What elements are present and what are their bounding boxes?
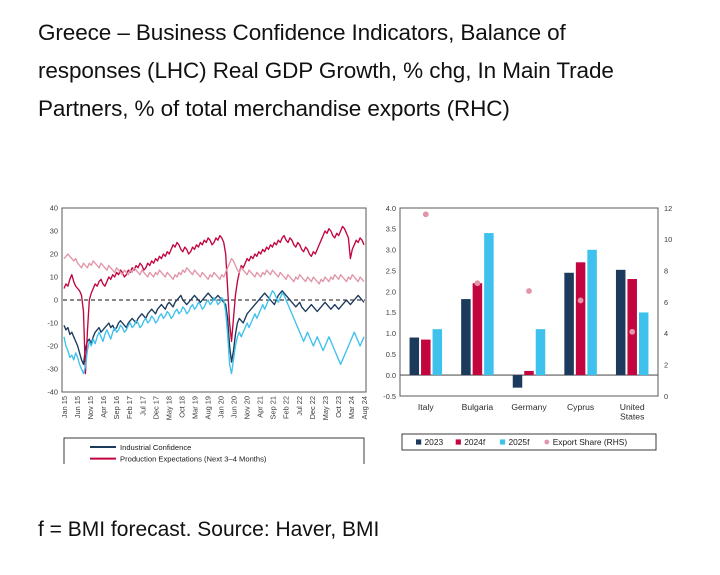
gdp-growth-chart: -0.50.00.51.01.52.02.53.03.54.0024681012…: [368, 202, 688, 464]
bar: [627, 279, 637, 375]
export-share-marker: [578, 298, 584, 304]
svg-text:Feb 22: Feb 22: [282, 396, 291, 419]
legend-swatch: [544, 440, 549, 445]
y-axis-tick-label: 0: [54, 296, 58, 305]
y-axis-tick-label: 0.0: [386, 371, 396, 380]
y-axis-tick-label: 2.5: [386, 266, 396, 275]
legend-label: 2025f: [508, 437, 530, 447]
x-axis-tick-label: Nov 15: [86, 396, 95, 419]
svg-text:Italy: Italy: [418, 402, 434, 412]
x-axis-tick-label: Feb 22: [282, 396, 291, 419]
page-title: Greece – Business Confidence Indicators,…: [38, 14, 658, 128]
business-confidence-svg: -40-30-20-10010203040Jan 15Jun 15Nov 15A…: [32, 202, 372, 464]
legend-label: 2023: [425, 437, 444, 447]
svg-text:Jul 22: Jul 22: [295, 396, 304, 416]
y2-axis-tick-label: 10: [664, 235, 672, 244]
x-axis-tick-label: May 23: [321, 396, 330, 420]
x-axis-tick-label: Nov 20: [243, 396, 252, 419]
y-axis-tick-label: -0.5: [383, 392, 396, 401]
category-label: Germany: [511, 402, 547, 412]
x-axis-tick-label: Feb 17: [125, 396, 134, 419]
y-axis-tick-label: 3.5: [386, 225, 396, 234]
svg-text:Jan 20: Jan 20: [217, 396, 226, 418]
y-axis-tick-label: 1.0: [386, 329, 396, 338]
svg-text:Dec 17: Dec 17: [151, 396, 160, 419]
x-axis-tick-label: Mar 24: [347, 396, 356, 419]
svg-text:Dec 22: Dec 22: [308, 396, 317, 419]
x-axis-tick-label: Apr 21: [256, 396, 265, 418]
y-axis-tick-label: 4.0: [386, 204, 396, 213]
bar: [473, 283, 483, 375]
svg-text:Cyprus: Cyprus: [567, 402, 594, 412]
x-axis-tick-label: Jul 22: [295, 396, 304, 416]
category-label: Italy: [418, 402, 434, 412]
x-axis-tick-label: Mar 19: [190, 396, 199, 419]
legend-label: Production Expectations (Next 3–4 Months…: [120, 455, 267, 464]
x-axis-tick-label: Jun 15: [73, 396, 82, 418]
y-axis-tick-label: 40: [50, 204, 58, 213]
svg-text:States: States: [620, 412, 644, 422]
x-axis-tick-label: Oct 23: [334, 396, 343, 418]
category-label: Cyprus: [567, 402, 594, 412]
category-label: UnitedStates: [620, 402, 645, 422]
source-note: f = BMI forecast. Source: Haver, BMI: [38, 516, 678, 544]
legend-swatch: [456, 439, 461, 444]
bar: [576, 262, 586, 375]
export-share-marker: [423, 211, 429, 217]
svg-text:Apr 16: Apr 16: [99, 396, 108, 418]
bar: [461, 299, 471, 375]
y-axis-tick-label: -10: [47, 319, 58, 328]
bar: [410, 338, 420, 376]
y2-axis-tick-label: 0: [664, 392, 668, 401]
svg-text:Mar 24: Mar 24: [347, 396, 356, 419]
x-axis-tick-label: Jan 20: [217, 396, 226, 418]
y-axis-tick-label: 2.0: [386, 287, 396, 296]
svg-text:Sep 21: Sep 21: [269, 396, 278, 419]
svg-text:Mar 19: Mar 19: [190, 396, 199, 419]
svg-text:Jul 17: Jul 17: [138, 396, 147, 416]
legend-label: 2024f: [464, 437, 486, 447]
x-axis-tick-label: May 18: [164, 396, 173, 420]
x-axis-tick-label: Jul 17: [138, 396, 147, 416]
bar: [564, 273, 574, 375]
bar: [513, 375, 523, 388]
svg-text:Feb 17: Feb 17: [125, 396, 134, 419]
x-axis-tick-label: Sep 21: [269, 396, 278, 419]
x-axis-tick-label: Apr 16: [99, 396, 108, 418]
legend-label: Industrial Confidence: [120, 443, 191, 452]
x-axis-tick-label: Oct 18: [177, 396, 186, 418]
x-axis-tick-label: Dec 22: [308, 396, 317, 419]
y2-axis-tick-label: 2: [664, 360, 668, 369]
gdp-growth-svg: -0.50.00.51.01.52.02.53.03.54.0024681012…: [368, 202, 688, 464]
svg-text:Nov 20: Nov 20: [243, 396, 252, 419]
bar: [484, 233, 494, 375]
legend-swatch: [500, 439, 505, 444]
legend-swatch: [416, 439, 421, 444]
svg-text:Apr 21: Apr 21: [256, 396, 265, 418]
svg-text:Oct 18: Oct 18: [177, 396, 186, 418]
svg-text:Germany: Germany: [511, 402, 547, 412]
y-axis-tick-label: 0.5: [386, 350, 396, 359]
svg-text:Sep 16: Sep 16: [112, 396, 121, 419]
export-share-marker: [629, 329, 635, 335]
y-axis-tick-label: 1.5: [386, 308, 396, 317]
y2-axis-tick-label: 12: [664, 204, 672, 213]
bar: [524, 371, 534, 375]
bar: [433, 329, 443, 375]
svg-text:Jun 20: Jun 20: [230, 396, 239, 418]
y-axis-tick-label: 10: [50, 273, 58, 282]
y-axis-tick-label: -20: [47, 342, 58, 351]
svg-text:Aug 19: Aug 19: [203, 396, 212, 419]
svg-text:Jan 15: Jan 15: [60, 396, 69, 418]
x-axis-tick-label: Sep 16: [112, 396, 121, 419]
x-axis-tick-label: Dec 17: [151, 396, 160, 419]
export-share-marker: [526, 288, 532, 294]
y2-axis-tick-label: 6: [664, 298, 668, 307]
bar: [536, 329, 546, 375]
bar: [616, 270, 626, 375]
legend-label: Export Share (RHS): [553, 437, 628, 447]
svg-text:Bulgaria: Bulgaria: [462, 402, 494, 412]
svg-text:Oct 23: Oct 23: [334, 396, 343, 418]
y-axis-tick-label: 20: [50, 250, 58, 259]
svg-text:May 23: May 23: [321, 396, 330, 420]
bar: [587, 250, 597, 375]
svg-text:Jun 15: Jun 15: [73, 396, 82, 418]
x-axis-tick-label: Jan 15: [60, 396, 69, 418]
bar: [639, 312, 649, 375]
y-axis-tick-label: 30: [50, 227, 58, 236]
svg-text:May 18: May 18: [164, 396, 173, 420]
y-axis-tick-label: -30: [47, 365, 58, 374]
business-confidence-chart: -40-30-20-10010203040Jan 15Jun 15Nov 15A…: [32, 202, 372, 464]
y-axis-tick-label: 3.0: [386, 246, 396, 255]
export-share-marker: [475, 280, 481, 286]
y2-axis-tick-label: 8: [664, 266, 668, 275]
svg-text:United: United: [620, 402, 645, 412]
y2-axis-tick-label: 4: [664, 329, 668, 338]
svg-text:Nov 15: Nov 15: [86, 396, 95, 419]
category-label: Bulgaria: [462, 402, 494, 412]
x-axis-tick-label: Aug 19: [203, 396, 212, 419]
bar: [421, 340, 431, 376]
y-axis-tick-label: -40: [47, 388, 58, 397]
x-axis-tick-label: Jun 20: [230, 396, 239, 418]
